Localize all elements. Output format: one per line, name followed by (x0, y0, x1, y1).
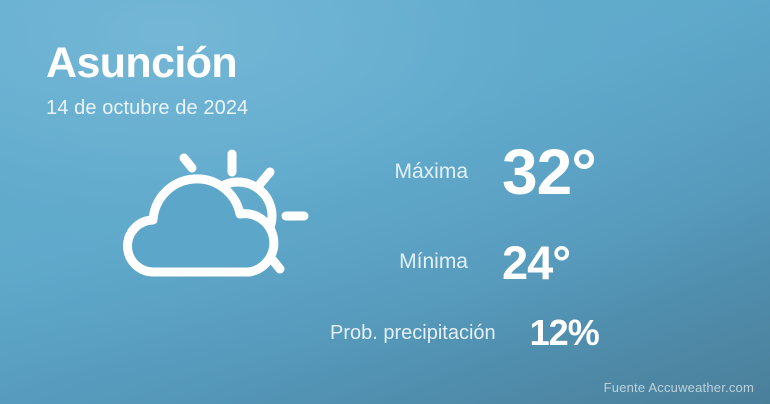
reading-label-max: Máxima (330, 160, 502, 184)
reading-value-min: 24° (502, 239, 570, 286)
partly-cloudy-icon (108, 132, 318, 297)
reading-label-precipitation: Prob. precipitación (330, 322, 530, 345)
source-attribution: Fuente Accuweather.com (604, 380, 754, 395)
reading-row-min: Mínima 24° (330, 218, 730, 306)
reading-row-max: Máxima 32° (330, 126, 730, 218)
header: Asunción 14 de octubre de 2024 (46, 38, 406, 120)
weather-widget: Asunción 14 de octubre de 2024 Máxima 32… (0, 0, 770, 404)
cloud-shape-icon (128, 179, 274, 272)
reading-label-min: Mínima (330, 250, 502, 274)
reading-value-max: 32° (502, 140, 596, 204)
reading-row-precipitation: Prob. precipitación 12% (330, 306, 730, 360)
readings-list: Máxima 32° Mínima 24° Prob. precipitació… (330, 126, 730, 360)
reading-value-precipitation: 12% (530, 315, 599, 351)
forecast-date: 14 de octubre de 2024 (46, 88, 406, 120)
city-name: Asunción (46, 38, 406, 88)
